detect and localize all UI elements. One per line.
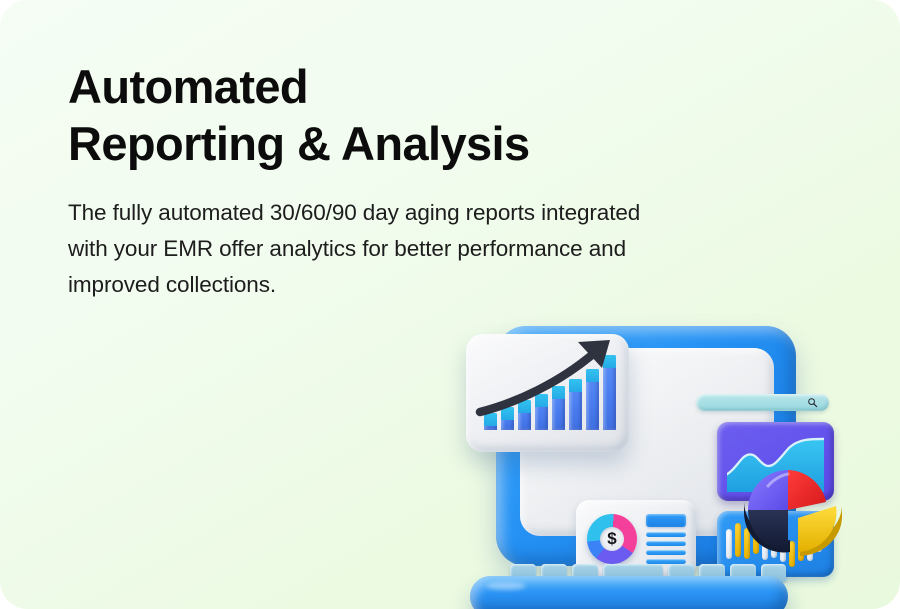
headline-line-1: Automated <box>68 60 308 113</box>
laptop-base <box>470 576 788 609</box>
pie-3d-chart <box>738 460 846 566</box>
promo-card: Automated Reporting & Analysis The fully… <box>0 0 900 609</box>
analytics-illustration: $ <box>448 312 868 602</box>
stat-line <box>646 532 686 537</box>
stat-line <box>646 541 686 546</box>
stat-bar <box>646 514 686 527</box>
candle <box>726 529 732 559</box>
page-title: Automated Reporting & Analysis <box>68 58 708 173</box>
text-block: Automated Reporting & Analysis The fully… <box>68 58 708 303</box>
stat-line <box>646 550 686 555</box>
search-icon <box>807 397 818 408</box>
dollar-icon: $ <box>587 514 637 564</box>
bar-chart-card[interactable] <box>466 334 629 452</box>
stat-lines <box>646 514 686 568</box>
headline-line-2: Reporting & Analysis <box>68 115 708 172</box>
trend-arrow-icon <box>474 338 624 422</box>
body-text: The fully automated 30/60/90 day aging r… <box>68 195 668 303</box>
search-input[interactable] <box>696 394 829 411</box>
